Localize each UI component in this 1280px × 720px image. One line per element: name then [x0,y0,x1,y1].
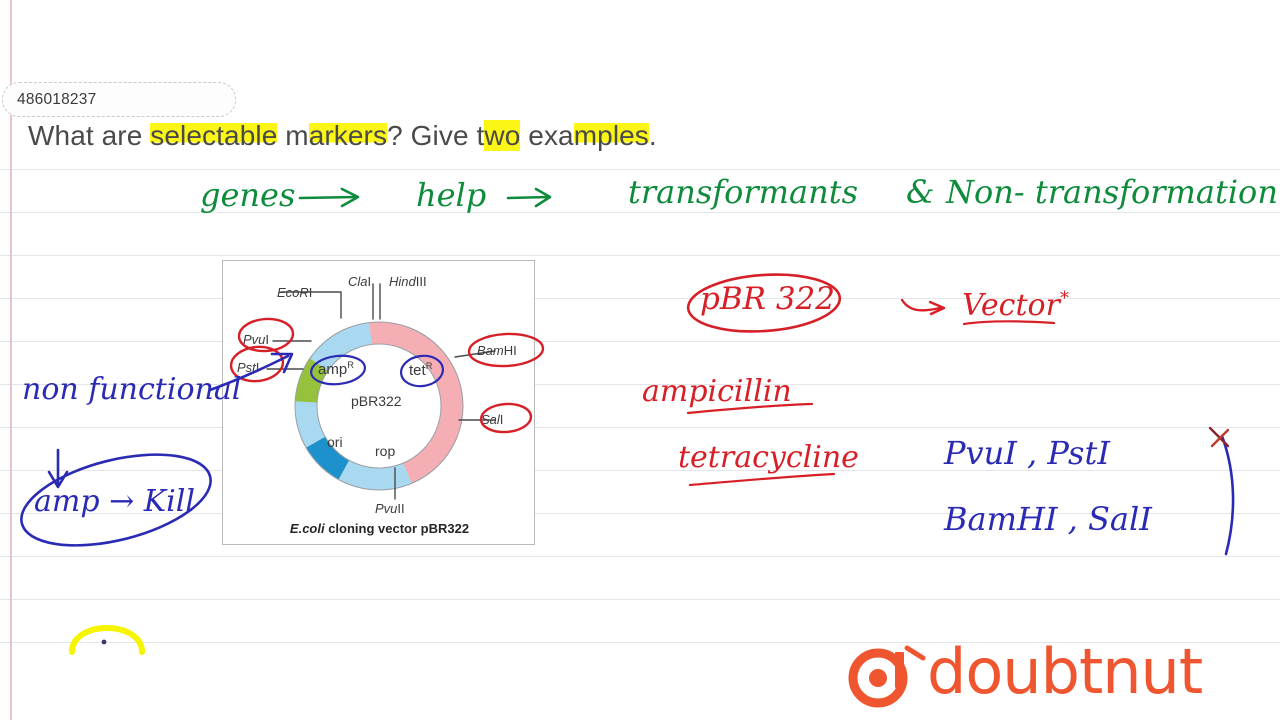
handwriting-enzymes-line-1: PvuI , PstI [944,434,1110,472]
figure-label-center: pBR322 [351,393,402,409]
blue-circle-amp-gene [308,352,368,388]
question-id-text: 486018237 [3,91,96,109]
handwriting-help: help [416,176,486,214]
question-seg-2: m [277,120,308,151]
question-seg-0: What are [28,120,150,151]
figure-label-ori: ori [327,434,343,450]
blue-arrow-non-functional-to-psti [208,350,298,398]
doubtnut-logo: doubtnut [845,636,1202,708]
handwriting-ampersand: & [906,173,934,211]
red-underline-vector [962,318,1058,328]
figure-caption-species: E.coli [290,521,325,536]
red-underline-ampicillin [686,402,816,416]
blue-circle-tet-gene [398,352,446,390]
figure-label-rop: rop [375,443,395,459]
question-seg-6: exa [520,120,573,151]
red-check-mark-icon [1204,424,1236,454]
doubtnut-mark-icon [845,636,927,708]
figure-caption-rest: cloning vector pBR322 [325,521,469,536]
red-arrow-to-vector-icon [900,292,954,318]
red-circle-sali [478,400,534,436]
doubtnut-wordmark: doubtnut [927,641,1202,703]
notebook-page: 486018237 What are selectable markers? G… [0,0,1280,720]
figure-label-pvuii: PvuII [375,501,405,516]
question-seg-1: selectable [150,120,277,151]
figure-label-hindiii: HindIII [389,274,427,289]
handwriting-enzymes-line-2: BamHI , SalI [944,500,1152,538]
question-seg-8: . [649,120,657,151]
handwriting-tetracycline: tetracycline [678,440,859,475]
vector-star: * [1060,288,1069,309]
question-text: What are selectable markers? Give two ex… [28,120,1028,164]
question-seg-3: arkers [309,120,387,151]
figure-caption: E.coli cloning vector pBR322 [223,521,536,536]
handwriting-non-transformation: Non- transformation [946,173,1278,211]
green-arrow-2-icon [506,186,560,210]
question-seg-5: wo [484,120,520,151]
red-underline-tetracycline [688,472,838,488]
red-circle-bamhi [466,330,546,370]
red-circle-pbr322 [684,272,844,334]
question-seg-4: ? Give t [387,120,484,151]
handwriting-genes: genes [200,176,295,214]
question-id-chip[interactable]: 486018237 [2,82,236,117]
blue-circle-amp-kill [14,448,219,552]
figure-label-clai: ClaI [348,274,371,289]
green-arrow-1-icon [298,186,368,210]
figure-label-ecori: EcoRI [277,285,312,300]
question-seg-7: mples [574,120,649,151]
handwriting-transformants: transformants [628,173,858,211]
yellow-arc-mark [68,610,146,654]
